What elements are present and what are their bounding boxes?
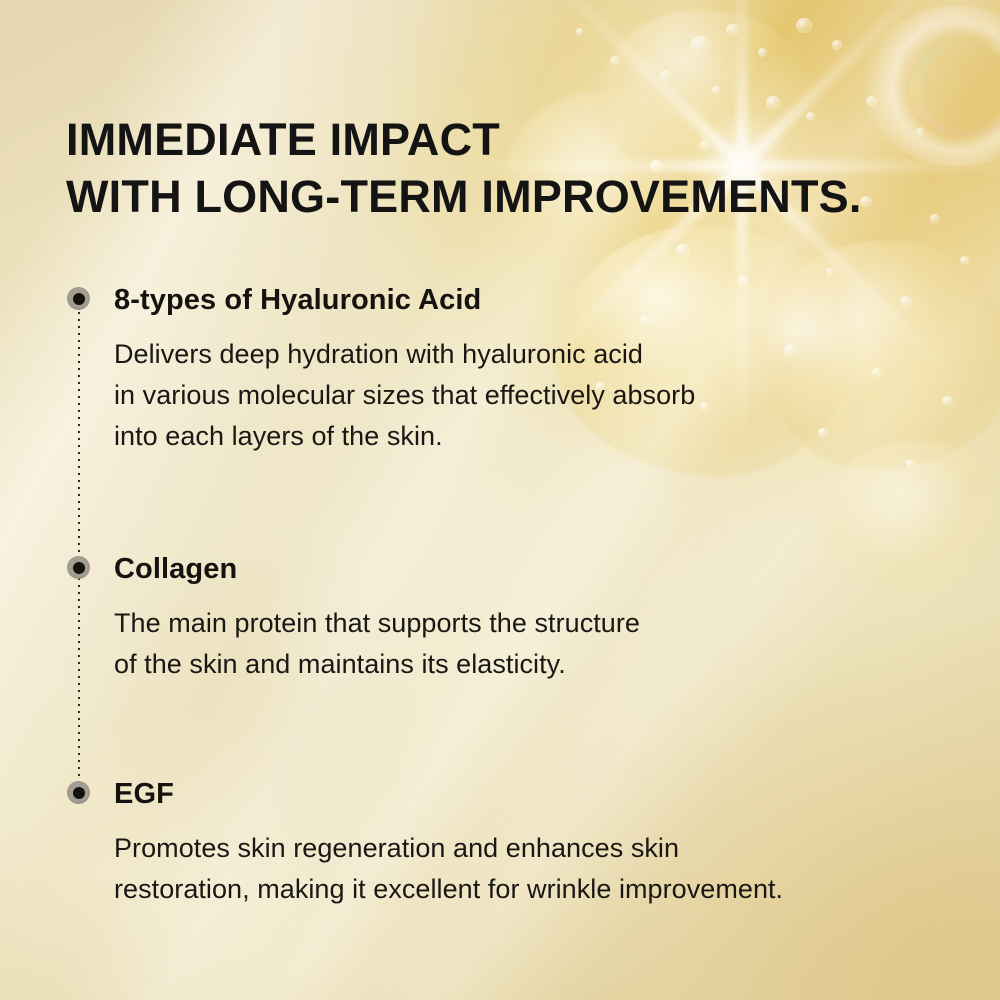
feature-description: The main protein that supports the struc…	[114, 603, 640, 685]
feature-title: Collagen	[114, 553, 237, 586]
feature-description-line: in various molecular sizes that effectiv…	[114, 375, 695, 416]
feature-description-line: restoration, making it excellent for wri…	[114, 869, 783, 910]
feature-description: Promotes skin regeneration and enhances …	[114, 828, 783, 910]
feature-description-line: Promotes skin regeneration and enhances …	[114, 828, 783, 869]
feature-description-line: into each layers of the skin.	[114, 416, 695, 457]
page-title: IMMEDIATE IMPACT WITH LONG-TERM IMPROVEM…	[66, 112, 862, 225]
bullet-ring-icon	[67, 287, 90, 310]
feature-title: EGF	[114, 778, 174, 811]
feature-description-line: of the skin and maintains its elasticity…	[114, 644, 640, 685]
bullet-ring-icon	[67, 556, 90, 579]
feature-description-line: Delivers deep hydration with hyaluronic …	[114, 334, 695, 375]
content-layer: IMMEDIATE IMPACT WITH LONG-TERM IMPROVEM…	[0, 0, 1000, 1000]
feature-description: Delivers deep hydration with hyaluronic …	[114, 334, 695, 457]
headline-line-2: WITH LONG-TERM IMPROVEMENTS.	[66, 169, 862, 226]
product-benefits-poster: IMMEDIATE IMPACT WITH LONG-TERM IMPROVEM…	[0, 0, 1000, 1000]
headline-line-1: IMMEDIATE IMPACT	[66, 112, 862, 169]
bullet-ring-icon	[67, 781, 90, 804]
feature-description-line: The main protein that supports the struc…	[114, 603, 640, 644]
feature-title: 8-types of Hyaluronic Acid	[114, 284, 481, 317]
